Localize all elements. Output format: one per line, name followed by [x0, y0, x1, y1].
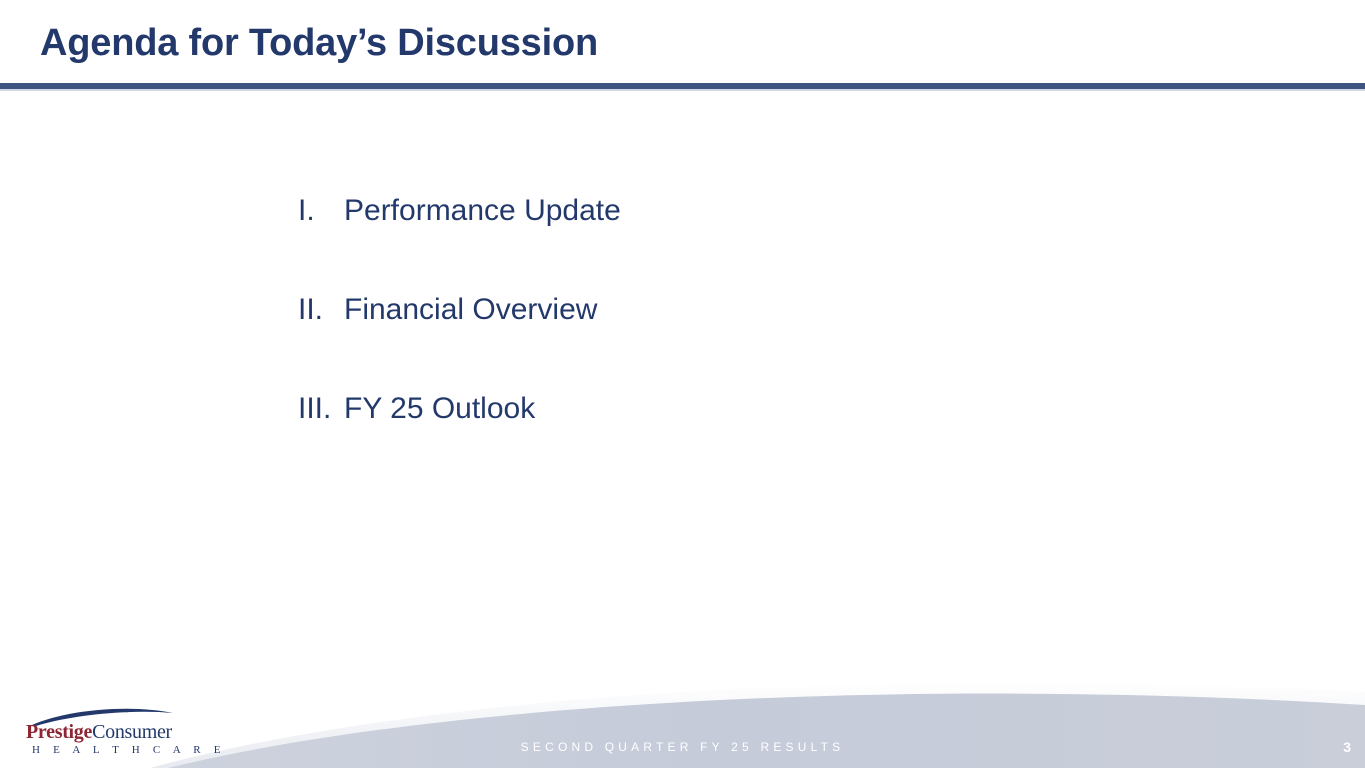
agenda-item-performance-update[interactable]: I. Performance Update	[298, 196, 998, 295]
agenda-item-label: FY 25 Outlook	[344, 394, 535, 424]
agenda-list: I. Performance Update II. Financial Over…	[298, 196, 998, 493]
agenda-item-numeral: III.	[298, 394, 344, 424]
agenda-item-label: Performance Update	[344, 196, 621, 226]
logo-word-consumer: Consumer	[92, 721, 172, 743]
agenda-item-numeral: I.	[298, 196, 344, 226]
agenda-item-fy-25-outlook[interactable]: III. FY 25 Outlook	[298, 394, 998, 493]
agenda-item-financial-overview[interactable]: II. Financial Overview	[298, 295, 998, 394]
logo-wordmark: PrestigeConsumer	[26, 722, 172, 742]
agenda-item-label: Financial Overview	[344, 295, 597, 325]
title-divider-shadow	[0, 89, 1365, 91]
slide: Agenda for Today’s Discussion I. Perform…	[0, 0, 1365, 768]
page-title: Agenda for Today’s Discussion	[40, 22, 598, 65]
logo-tagline: H E A L T H C A R E	[32, 744, 226, 756]
page-number: 3	[1343, 739, 1351, 755]
logo-word-prestige: Prestige	[26, 721, 92, 743]
agenda-item-numeral: II.	[298, 295, 344, 325]
company-logo: PrestigeConsumer H E A L T H C A R E	[26, 704, 176, 760]
